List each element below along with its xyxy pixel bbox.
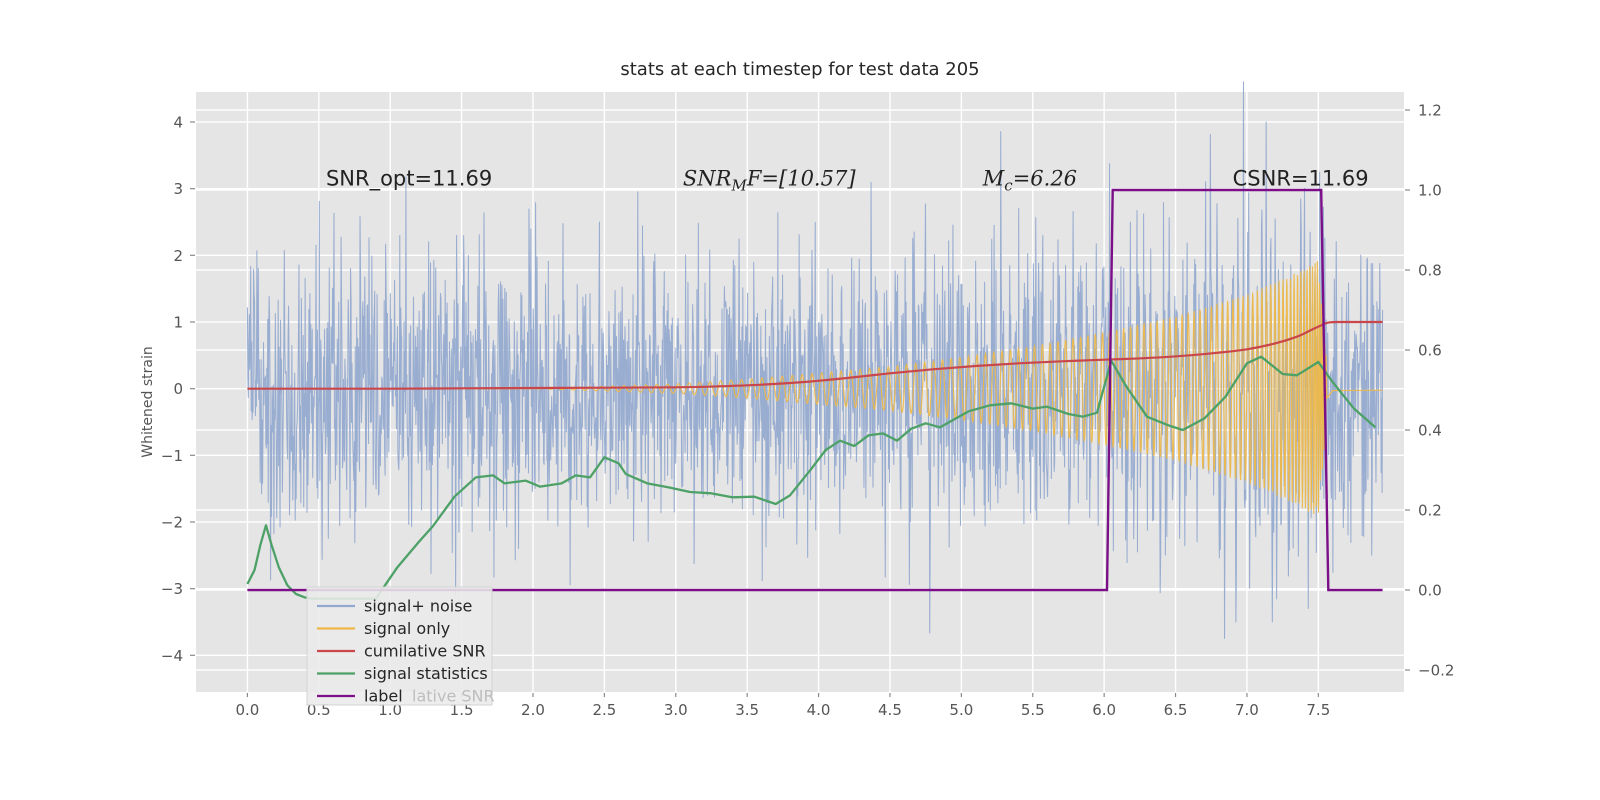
tick-label-y-4: 0 (173, 380, 183, 398)
legend-label-3: signal statistics (364, 664, 488, 683)
tick-label-y-right-2: 0.8 (1418, 262, 1442, 280)
tick-label-y-3: 1 (173, 314, 183, 332)
tick-label-y-8: −4 (161, 647, 183, 665)
tick-label-y-6: −2 (161, 514, 183, 532)
annotation-csnr: CSNR=11.69 (1233, 166, 1369, 190)
tick-label-y-5: −1 (161, 447, 183, 465)
tick-label-y-right-7: −0.2 (1418, 662, 1454, 680)
annotation-snr-mf: SNRMF=[10.57] (683, 166, 856, 194)
tick-label-x-6: 3.0 (664, 701, 688, 719)
tick-label-x-5: 2.5 (592, 701, 616, 719)
y-axis-label: Whitened strain (140, 346, 156, 457)
tick-label-y-0: 4 (173, 114, 183, 132)
page-title: stats at each timestep for test data 205 (620, 59, 979, 80)
tick-label-y-1: 3 (173, 180, 183, 198)
tick-label-x-15: 7.5 (1306, 701, 1330, 719)
tick-label-x-7: 3.5 (735, 701, 759, 719)
tick-label-x-14: 7.0 (1235, 701, 1259, 719)
plot-svg: 0.00.51.01.52.02.53.03.54.04.55.05.56.06… (0, 0, 1600, 800)
annotation-snr-opt: SNR_opt=11.69 (326, 166, 492, 191)
tick-label-y-2: 2 (173, 247, 183, 265)
tick-label-x-10: 5.0 (949, 701, 973, 719)
tick-label-y-right-6: 0.0 (1418, 582, 1442, 600)
annotation-chirp-mass: Mc=6.26 (982, 166, 1077, 194)
tick-label-x-12: 6.0 (1092, 701, 1116, 719)
legend-label-1: signal only (364, 619, 450, 638)
legend-label-4: label (364, 687, 403, 706)
tick-label-y-right-1: 1.0 (1418, 182, 1442, 200)
tick-label-x-9: 4.5 (878, 701, 902, 719)
figure-canvas: 0.00.51.01.52.02.53.03.54.04.55.05.56.06… (0, 0, 1600, 800)
tick-label-y-7: −3 (161, 580, 183, 598)
tick-label-x-13: 6.5 (1164, 701, 1188, 719)
tick-label-y-right-5: 0.2 (1418, 502, 1442, 520)
legend-label-0: signal+ noise (364, 597, 472, 616)
tick-label-x-11: 5.5 (1021, 701, 1045, 719)
legend-label-2: cumilative SNR (364, 642, 486, 661)
tick-label-x-4: 2.0 (521, 701, 545, 719)
tick-label-y-right-4: 0.4 (1418, 422, 1442, 440)
legend: cumilative SNRsignal+ noisesignal onlycu… (307, 587, 495, 706)
tick-label-y-right-0: 1.2 (1418, 102, 1442, 120)
tick-label-x-8: 4.0 (807, 701, 831, 719)
legend-ghost-label: lative SNR (412, 687, 495, 706)
tick-label-y-right-3: 0.6 (1418, 342, 1442, 360)
tick-label-x-0: 0.0 (235, 701, 259, 719)
